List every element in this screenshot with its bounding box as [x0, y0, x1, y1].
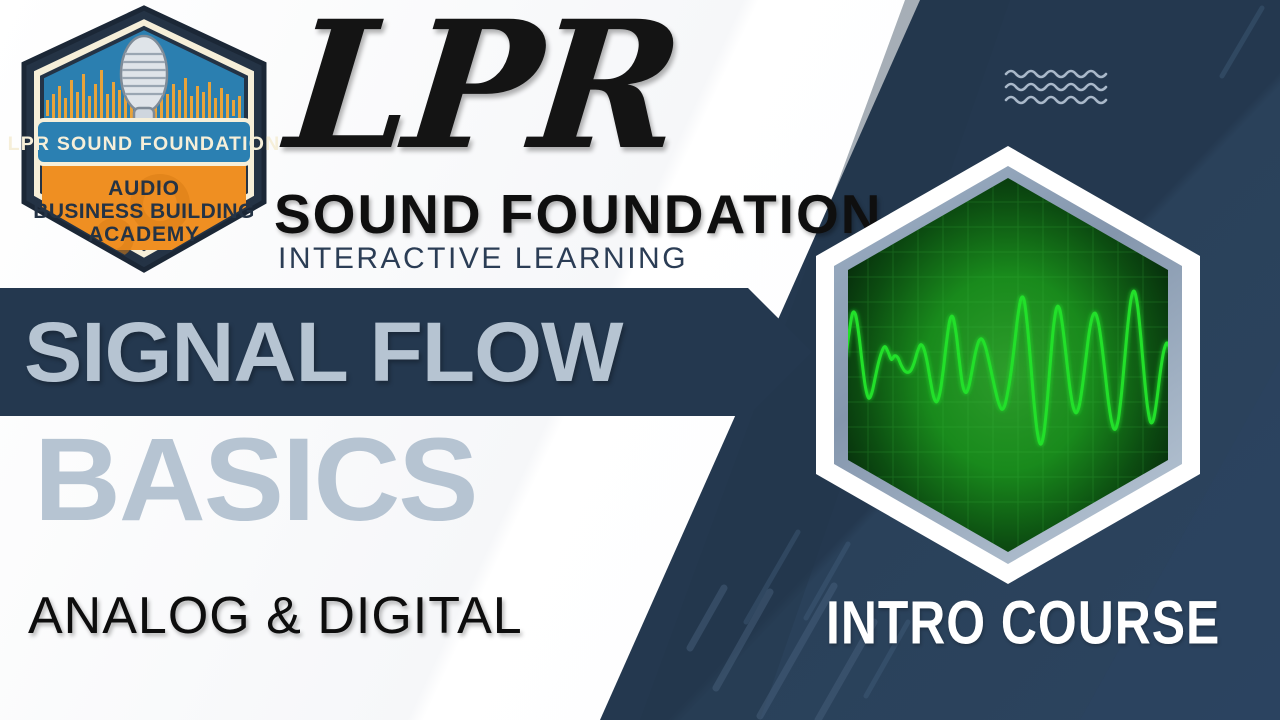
headline-primary: SIGNAL FLOW: [24, 306, 622, 398]
oscilloscope-hexagon: [782, 142, 1234, 588]
headline-tagline: ANALOG & DIGITAL: [28, 586, 523, 646]
svg-text:AUDIO: AUDIO: [108, 177, 180, 200]
brand-subtitle: INTERACTIVE LEARNING: [278, 242, 688, 276]
badge-banner-label: LPR SOUND FOUNDATION: [8, 133, 280, 155]
lpr-academy-badge: LPR SOUND FOUNDATION AUDIO BUSINESS BUIL…: [8, 4, 280, 276]
headline-banner: SIGNAL FLOW: [0, 288, 812, 416]
lpr-script-logo: LPR: [281, 0, 684, 174]
course-label: INTRO COURSE: [826, 589, 1220, 657]
svg-text:BUSINESS BUILDING: BUSINESS BUILDING: [33, 200, 255, 223]
svg-text:ACADEMY: ACADEMY: [88, 223, 200, 246]
sound-wave-lines-icon: [1004, 66, 1114, 108]
headline-secondary: BASICS: [34, 418, 477, 542]
thumbnail-canvas: LPR SOUND FOUNDATION AUDIO BUSINESS BUIL…: [0, 0, 1280, 720]
